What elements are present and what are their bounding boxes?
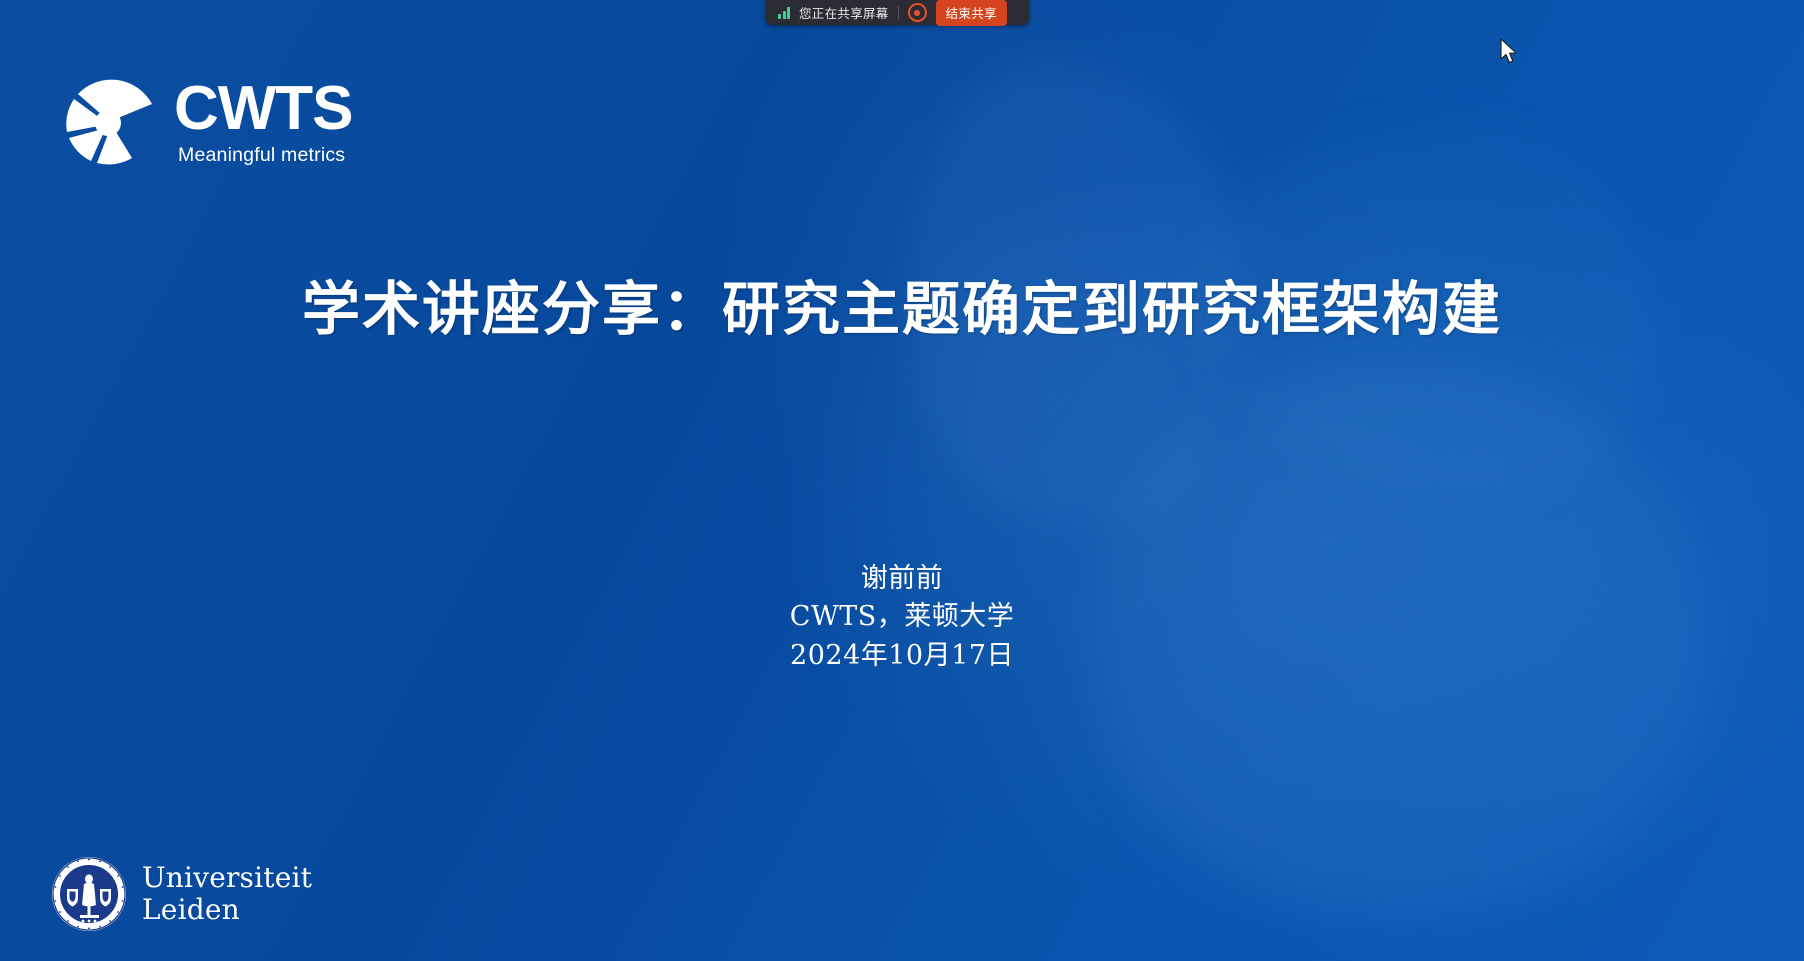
share-status-text: 您正在共享屏幕 xyxy=(799,3,889,22)
slide-title: 学术讲座分享：研究主题确定到研究框架构建 xyxy=(0,262,1804,346)
author-affiliation: CWTS，莱顿大学 xyxy=(0,598,1804,636)
cwts-donut-mark-icon xyxy=(52,60,164,170)
presentation-date: 2024年10月17日 xyxy=(0,637,1804,675)
record-dot-icon[interactable] xyxy=(908,3,927,22)
cwts-logo: CWTS Meaningful metrics xyxy=(52,60,353,170)
presentation-slide: CWTS Meaningful metrics 学术讲座分享：研究主题确定到研究… xyxy=(0,0,1804,961)
cwts-tagline: Meaningful metrics xyxy=(178,144,353,167)
cwts-wordmark: CWTS xyxy=(174,80,353,139)
stop-share-button[interactable]: 结束共享 xyxy=(936,0,1007,26)
signal-bars-icon xyxy=(778,7,790,19)
leiden-logo-line-1: Universiteit xyxy=(142,862,312,894)
leiden-university-seal-icon xyxy=(50,855,128,933)
leiden-logo-line-2: Leiden xyxy=(142,894,312,926)
leiden-university-logo: Universiteit Leiden xyxy=(50,855,312,933)
author-name: 谢前前 xyxy=(0,560,1804,598)
toolbar-divider xyxy=(898,6,899,20)
slide-author-block: 谢前前 CWTS，莱顿大学 2024年10月17日 xyxy=(0,560,1804,675)
screen-share-toolbar[interactable]: 您正在共享屏幕 结束共享 xyxy=(766,0,1029,25)
